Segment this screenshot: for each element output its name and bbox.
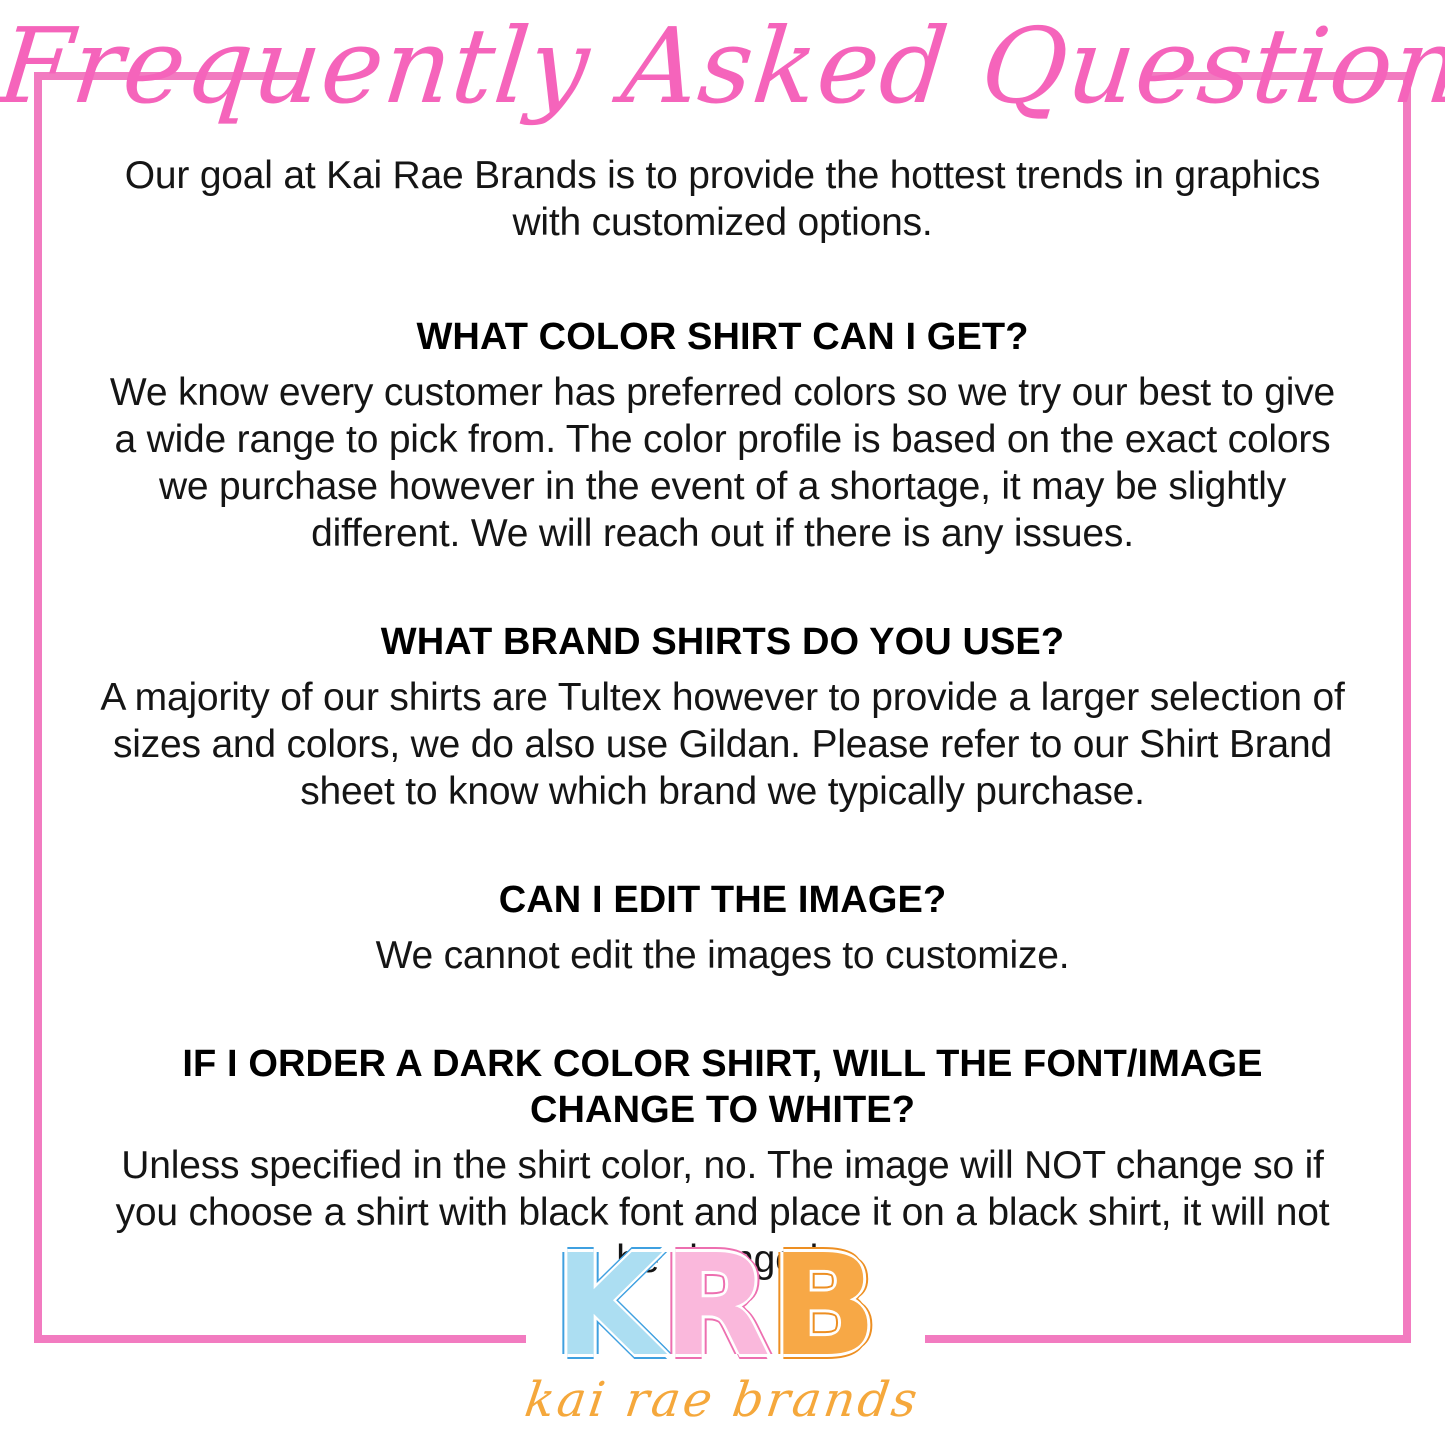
spacer: [95, 557, 1350, 619]
logo-wordmark: kai rae brands: [0, 1372, 1445, 1428]
brand-logo: K R B: [0, 1248, 1445, 1371]
faq-item: WHAT BRAND SHIRTS DO YOU USE? A majority…: [95, 619, 1350, 815]
logo-letter-r: R: [663, 1248, 771, 1366]
spacer: [95, 246, 1350, 314]
faq-item: CAN I EDIT THE IMAGE? We cannot edit the…: [95, 877, 1350, 979]
faq-item: WHAT COLOR SHIRT CAN I GET? We know ever…: [95, 314, 1350, 557]
faq-question: WHAT BRAND SHIRTS DO YOU USE?: [95, 619, 1350, 665]
spacer: [95, 815, 1350, 877]
page-title: Frequently Asked Questions: [0, 10, 1445, 122]
logo-letter-k: K: [555, 1248, 664, 1366]
krb-monogram: K R B: [553, 1248, 893, 1366]
spacer: [95, 1133, 1350, 1142]
spacer: [95, 665, 1350, 674]
spacer: [95, 923, 1350, 932]
spacer: [95, 979, 1350, 1041]
faq-question: IF I ORDER A DARK COLOR SHIRT, WILL THE …: [95, 1041, 1350, 1133]
faq-question: WHAT COLOR SHIRT CAN I GET?: [95, 314, 1350, 360]
faq-answer: A majority of our shirts are Tultex howe…: [95, 674, 1350, 815]
logo-letter-b: B: [771, 1248, 878, 1366]
faq-content: Our goal at Kai Rae Brands is to provide…: [95, 152, 1350, 1283]
intro-paragraph: Our goal at Kai Rae Brands is to provide…: [95, 152, 1350, 246]
frame-border-left: [34, 72, 42, 1343]
faq-question: CAN I EDIT THE IMAGE?: [95, 877, 1350, 923]
spacer: [95, 360, 1350, 369]
faq-graphic: Frequently Asked Questions Our goal at K…: [0, 0, 1445, 1445]
faq-answer: We know every customer has preferred col…: [95, 369, 1350, 557]
faq-answer: We cannot edit the images to customize.: [95, 932, 1350, 979]
frame-border-right: [1403, 72, 1411, 1343]
